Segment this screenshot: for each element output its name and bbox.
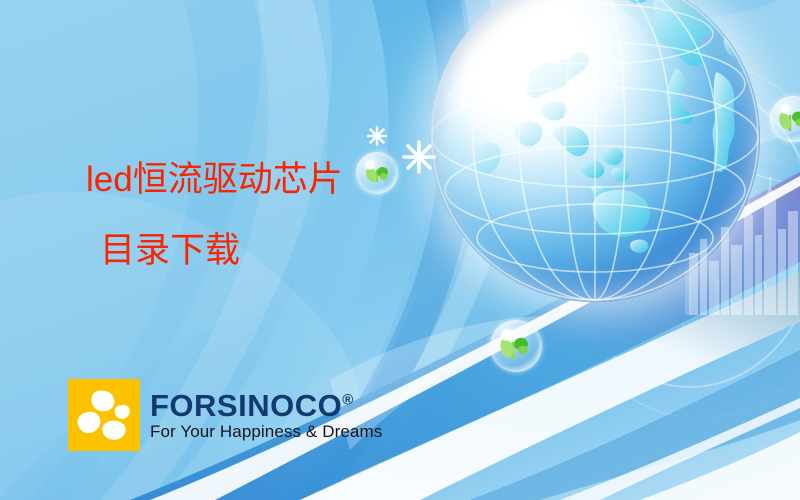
logo-company-name: FORSINOCO® bbox=[150, 390, 382, 421]
company-logo: FORSINOCO® For Your Happiness & Dreams bbox=[68, 379, 382, 451]
sparkle-large bbox=[402, 140, 436, 174]
registered-trademark-mark: ® bbox=[342, 391, 354, 408]
headline-line-2: 目录下载 bbox=[100, 233, 343, 268]
page-title: led恒流驱动芯片 目录下载 bbox=[86, 162, 343, 268]
cityscape-skyline-icon bbox=[685, 175, 800, 315]
green-sprout-icon bbox=[770, 96, 800, 142]
bubble-sprout-right bbox=[770, 96, 800, 142]
logo-name-text: FORSINOCO bbox=[150, 388, 342, 423]
sparkle-small bbox=[367, 126, 387, 146]
headline-line-1: led恒流驱动芯片 bbox=[86, 162, 343, 197]
logo-tagline: For Your Happiness & Dreams bbox=[150, 423, 382, 441]
four-petal-flower-glyph bbox=[68, 379, 140, 451]
green-sprout-icon bbox=[356, 152, 398, 194]
banner-image: led恒流驱动芯片 目录下载 FORSINOCO® bbox=[0, 0, 800, 500]
bubble-sprout-center bbox=[490, 320, 542, 372]
bubble-sprout-left bbox=[356, 152, 398, 194]
green-sprout-icon bbox=[490, 320, 542, 372]
four-petal-flower-icon bbox=[68, 379, 140, 451]
